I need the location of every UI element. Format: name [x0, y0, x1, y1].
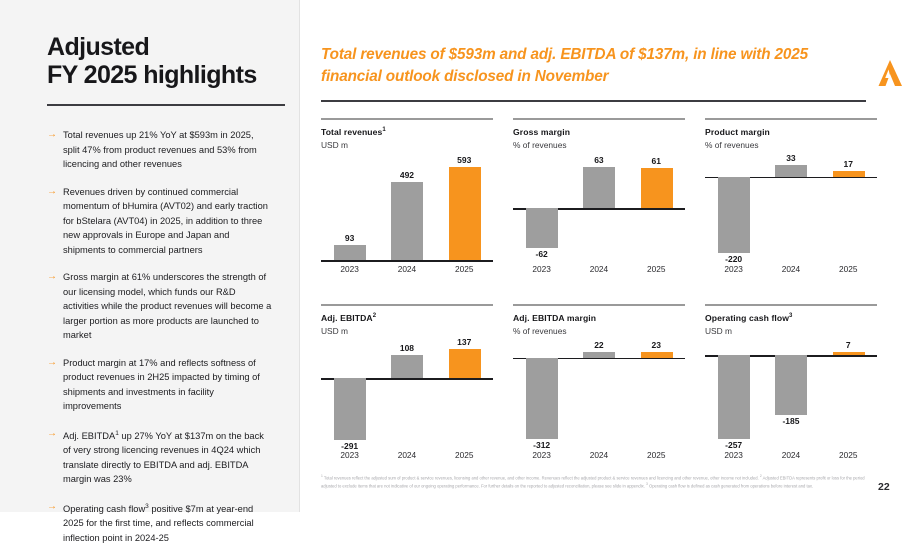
chart-category-label: 2025: [628, 450, 685, 460]
chart-category-label: 2025: [436, 450, 493, 460]
chart-plot-area: -2203317: [705, 156, 877, 260]
chart-category-label: 2025: [436, 264, 493, 274]
company-logo-icon: [876, 58, 904, 88]
list-item-text: Total revenues up 21% YoY at $593m in 20…: [63, 128, 272, 172]
chart-bar-slot: -62: [513, 156, 570, 260]
chart-bar: [641, 352, 673, 358]
chart-bar-slot: 17: [820, 156, 877, 260]
page-title: Adjusted FY 2025 highlights: [47, 33, 287, 90]
chart-subtitle: USD m: [321, 140, 348, 150]
list-item-text: Gross margin at 61% underscores the stre…: [63, 270, 272, 343]
list-item: →Product margin at 17% and reflects soft…: [47, 356, 272, 414]
chart-top-rule: [513, 304, 685, 306]
chart-plot-area: -257-1857: [705, 342, 877, 446]
chart-category-label: 2025: [820, 264, 877, 274]
arrow-icon: →: [47, 356, 63, 414]
chart-category-axis: 202320242025: [321, 450, 493, 464]
chart-bar-value-label: 492: [378, 170, 435, 180]
chart-5: Adj. EBITDA margin% of revenues-31222232…: [513, 304, 685, 472]
chart-category-axis: 202320242025: [321, 264, 493, 278]
chart-title: Total revenues1: [321, 127, 386, 137]
list-item: →Total revenues up 21% YoY at $593m in 2…: [47, 128, 272, 172]
chart-bar: [833, 171, 865, 177]
chart-2: Gross margin% of revenues-62636120232024…: [513, 118, 685, 286]
chart-bar: [526, 208, 558, 248]
chart-grid: Total revenues1USD m93492593202320242025…: [321, 118, 877, 468]
chart-bar: [583, 167, 615, 208]
chart-title: Product margin: [705, 127, 770, 137]
chart-title: Operating cash flow3: [705, 313, 792, 323]
chart-category-label: 2025: [820, 450, 877, 460]
chart-bar: [641, 168, 673, 208]
chart-category-label: 2023: [321, 450, 378, 460]
list-item-text: Product margin at 17% and reflects softn…: [63, 356, 272, 414]
chart-bar-slot: 593: [436, 156, 493, 260]
chart-bar-value-label: -185: [762, 416, 819, 426]
list-item-text: Operating cash flow3 positive $7m at yea…: [63, 500, 272, 546]
chart-bar-value-label: 33: [762, 153, 819, 163]
chart-bar-value-label: 63: [570, 155, 627, 165]
chart-bar-value-label: -257: [705, 440, 762, 450]
chart-top-rule: [705, 304, 877, 306]
arrow-icon: →: [47, 185, 63, 258]
chart-category-label: 2024: [570, 450, 627, 460]
page-number: 22: [878, 481, 890, 493]
arrow-icon: →: [47, 500, 63, 546]
chart-bar-value-label: 17: [820, 159, 877, 169]
chart-subtitle: USD m: [321, 326, 348, 336]
chart-bar-slot: 108: [378, 342, 435, 446]
page-title-line1: Adjusted: [47, 33, 149, 61]
left-panel: Adjusted FY 2025 highlights →Total reven…: [0, 0, 299, 512]
chart-bar-slot: 492: [378, 156, 435, 260]
chart-bar-slot: 23: [628, 342, 685, 446]
footnotes: 1 Total revenues reflect the adjusted su…: [321, 474, 877, 490]
chart-bar-value-label: 137: [436, 337, 493, 347]
chart-bar-value-label: 593: [436, 155, 493, 165]
chart-bar-slot: 137: [436, 342, 493, 446]
headline-divider: [321, 100, 866, 102]
chart-category-label: 2023: [513, 450, 570, 460]
chart-top-rule: [513, 118, 685, 120]
chart-bar: [833, 352, 865, 355]
chart-top-rule: [705, 118, 877, 120]
chart-bar: [526, 358, 558, 439]
chart-bar-value-label: 23: [628, 340, 685, 350]
chart-bar-value-label: 61: [628, 156, 685, 166]
chart-bar: [334, 378, 366, 440]
chart-bar: [775, 165, 807, 176]
chart-bar-slot: 93: [321, 156, 378, 260]
chart-title: Adj. EBITDA2: [321, 313, 376, 323]
list-item: →Gross margin at 61% underscores the str…: [47, 270, 272, 343]
chart-bar-value-label: 93: [321, 233, 378, 243]
chart-category-label: 2024: [378, 264, 435, 274]
chart-subtitle: % of revenues: [513, 326, 567, 336]
page-title-line2: FY 2025 highlights: [47, 61, 257, 89]
chart-title: Gross margin: [513, 127, 570, 137]
chart-bar: [449, 349, 481, 378]
chart-bar: [583, 352, 615, 358]
chart-category-label: 2023: [705, 264, 762, 274]
chart-bar-slot: -257: [705, 342, 762, 446]
chart-bar-value-label: 108: [378, 343, 435, 353]
chart-bar: [334, 245, 366, 260]
chart-top-rule: [321, 304, 493, 306]
chart-plot-area: -626361: [513, 156, 685, 260]
chart-1: Total revenues1USD m93492593202320242025: [321, 118, 493, 286]
chart-plot-area: 93492593: [321, 156, 493, 260]
title-divider: [47, 104, 285, 106]
chart-title: Adj. EBITDA margin: [513, 313, 596, 323]
chart-bar: [391, 182, 423, 260]
chart-3: Product margin% of revenues-220331720232…: [705, 118, 877, 286]
chart-category-label: 2023: [513, 264, 570, 274]
chart-bar: [718, 355, 750, 439]
chart-plot-area: -3122223: [513, 342, 685, 446]
chart-top-rule: [321, 118, 493, 120]
arrow-icon: →: [47, 270, 63, 343]
arrow-icon: →: [47, 427, 63, 487]
chart-bar-slot: -185: [762, 342, 819, 446]
chart-bar-slot: -312: [513, 342, 570, 446]
chart-bar-slot: 7: [820, 342, 877, 446]
chart-category-label: 2024: [570, 264, 627, 274]
chart-bar-value-label: -312: [513, 440, 570, 450]
chart-category-label: 2023: [321, 264, 378, 274]
chart-zero-axis: [321, 260, 493, 262]
chart-bar: [449, 167, 481, 260]
chart-bar-slot: 61: [628, 156, 685, 260]
chart-bar-slot: -291: [321, 342, 378, 446]
chart-bar-slot: -220: [705, 156, 762, 260]
right-panel: Total revenues of $593m and adj. EBITDA …: [300, 0, 911, 512]
arrow-icon: →: [47, 128, 63, 172]
chart-subtitle: % of revenues: [513, 140, 567, 150]
chart-subtitle: % of revenues: [705, 140, 759, 150]
chart-category-label: 2024: [762, 450, 819, 460]
chart-bar-value-label: 22: [570, 340, 627, 350]
chart-6: Operating cash flow3USD m-257-1857202320…: [705, 304, 877, 472]
list-item-text: Revenues driven by continued commercial …: [63, 185, 272, 258]
chart-category-label: 2024: [378, 450, 435, 460]
chart-category-axis: 202320242025: [513, 450, 685, 464]
chart-subtitle: USD m: [705, 326, 732, 336]
list-item: →Operating cash flow3 positive $7m at ye…: [47, 500, 272, 546]
list-item: →Revenues driven by continued commercial…: [47, 185, 272, 258]
chart-category-axis: 202320242025: [705, 264, 877, 278]
list-item: →Adj. EBITDA1 up 27% YoY at $137m on the…: [47, 427, 272, 487]
chart-bar: [391, 355, 423, 378]
chart-bar-slot: 33: [762, 156, 819, 260]
chart-category-label: 2024: [762, 264, 819, 274]
chart-category-label: 2023: [705, 450, 762, 460]
chart-category-axis: 202320242025: [513, 264, 685, 278]
chart-bar-value-label: 7: [820, 340, 877, 350]
chart-bar-slot: 63: [570, 156, 627, 260]
highlights-list: →Total revenues up 21% YoY at $593m in 2…: [47, 128, 272, 558]
chart-category-axis: 202320242025: [705, 450, 877, 464]
chart-category-label: 2025: [628, 264, 685, 274]
headline: Total revenues of $593m and adj. EBITDA …: [321, 44, 866, 87]
chart-bar: [775, 355, 807, 415]
chart-bar-value-label: -62: [513, 249, 570, 259]
list-item-text: Adj. EBITDA1 up 27% YoY at $137m on the …: [63, 427, 272, 487]
chart-4: Adj. EBITDA2USD m-291108137202320242025: [321, 304, 493, 472]
chart-bar: [718, 177, 750, 253]
chart-bar-value-label: -220: [705, 254, 762, 264]
chart-bar-slot: 22: [570, 342, 627, 446]
chart-plot-area: -291108137: [321, 342, 493, 446]
